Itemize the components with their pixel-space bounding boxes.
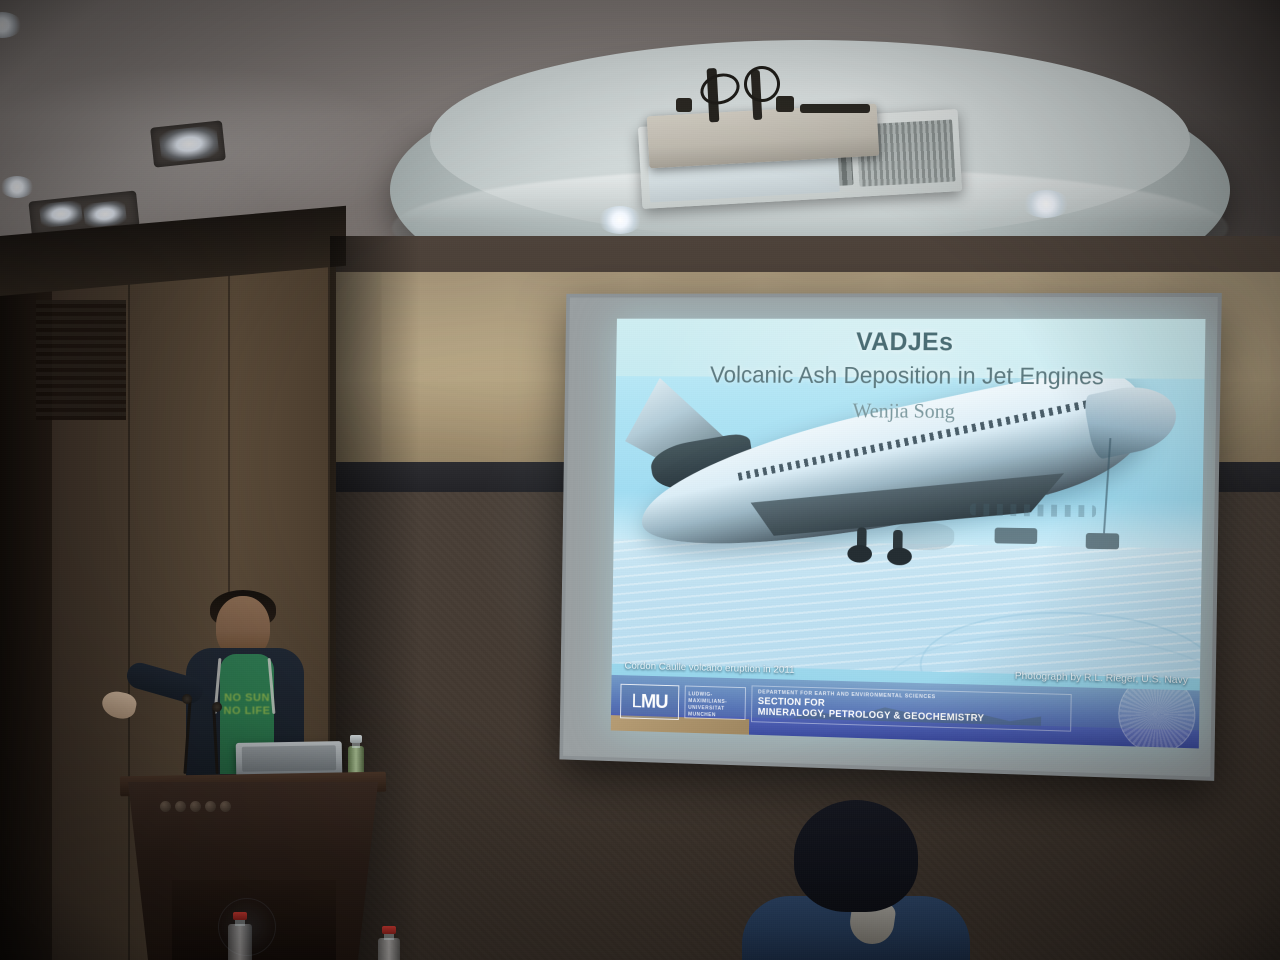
microphone-head	[182, 694, 192, 704]
presentation-slide: VADJEs Volcanic Ash Deposition in Jet En…	[611, 319, 1206, 749]
lmu-university-name: LUDWIG- MAXIMILIANS- UNIVERSITAT MUNCHEN	[684, 686, 746, 721]
bottle-body	[378, 938, 400, 960]
microphone-head	[212, 702, 222, 712]
bottle-cap	[350, 735, 362, 743]
bottle-cap	[382, 926, 396, 934]
tshirt-line-2: NO LIFE	[220, 705, 274, 718]
bottle-neck	[235, 919, 245, 926]
aircraft-wheel	[847, 545, 872, 563]
tshirt-line-1: NO SUN	[220, 692, 274, 705]
audience-member-head	[794, 800, 918, 912]
lmu-logo-mu: MU	[641, 691, 668, 714]
wall-vent-grille	[36, 300, 126, 420]
water-bottle[interactable]	[228, 912, 252, 960]
ground-vehicle	[995, 528, 1038, 544]
ceiling-downlight	[1022, 190, 1070, 218]
bottle-body	[228, 924, 252, 960]
ceiling-downlight	[83, 200, 127, 228]
podium-button[interactable]	[190, 801, 201, 812]
slide-footer-banner: LMU LUDWIG- MAXIMILIANS- UNIVERSITAT MUN…	[611, 675, 1200, 749]
lecture-hall-photo: VADJEs Volcanic Ash Deposition in Jet En…	[0, 0, 1280, 960]
ceiling-downlight	[598, 206, 642, 234]
presenter-tshirt-text: NO SUN NO LIFE	[220, 692, 274, 718]
aircraft-wheel	[887, 547, 912, 565]
podium-button[interactable]	[220, 801, 231, 812]
lmu-logo: LMU	[620, 684, 679, 720]
bottle-neck	[384, 933, 394, 940]
slide-title: VADJEs	[616, 326, 1205, 358]
water-bottle[interactable]	[378, 928, 400, 960]
projection-screen[interactable]: VADJEs Volcanic Ash Deposition in Jet En…	[559, 293, 1221, 781]
podium-button[interactable]	[205, 801, 216, 812]
projector-knob	[676, 98, 692, 112]
ceiling-downlight	[39, 200, 83, 228]
slide-author: Wenjia Song	[615, 397, 1204, 426]
projector-arm	[800, 104, 870, 113]
podium-control-panel[interactable]	[160, 800, 232, 812]
projector-knob	[776, 96, 794, 112]
ceiling-downlight	[158, 125, 219, 163]
presenter-laptop[interactable]	[236, 741, 343, 777]
background-treeline	[970, 504, 1096, 518]
ceiling-downlight	[0, 176, 34, 198]
wall-panel-seam	[128, 236, 130, 960]
lmu-logo-l: L	[631, 690, 641, 712]
podium-button[interactable]	[160, 801, 171, 812]
audience-member	[742, 800, 970, 960]
slide-subtitle: Volcanic Ash Deposition in Jet Engines	[616, 362, 1205, 392]
screen-surface: VADJEs Volcanic Ash Deposition in Jet En…	[563, 297, 1218, 777]
podium-button[interactable]	[175, 801, 186, 812]
bottle-cap	[233, 912, 247, 920]
ground-vehicle	[1086, 533, 1120, 549]
